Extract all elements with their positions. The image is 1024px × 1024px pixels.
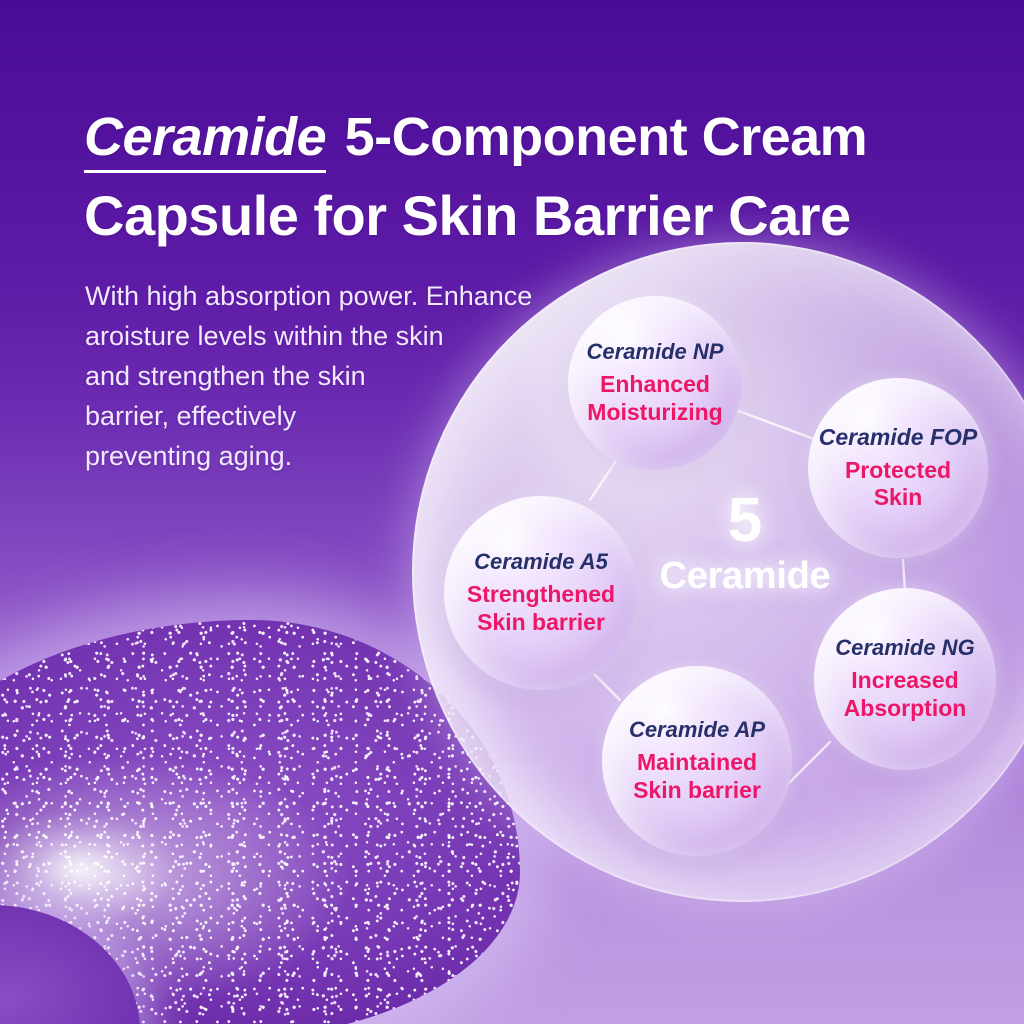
bubble-ng-benefit: Increased Absorption <box>844 667 967 721</box>
bubble-np-name: Ceramide NP <box>587 340 724 364</box>
headline-line-2: Capsule for Skin Barrier Care <box>84 187 984 246</box>
description-line-3: and strengthen the skin <box>85 357 565 397</box>
bubble-ceramide-ng[interactable]: Ceramide NG Increased Absorption <box>814 588 996 770</box>
bubble-a5-benefit: Strengthened Skin barrier <box>467 581 615 635</box>
description-paragraph: With high absorption power. Enhance aroi… <box>85 277 565 477</box>
bubble-ceramide-np[interactable]: Ceramide NP Enhanced Moisturizing <box>568 296 742 470</box>
description-line-5: preventing aging. <box>85 437 565 477</box>
ceramide-word: Ceramide <box>620 555 870 598</box>
bubble-ap-benefit-line-2: Skin barrier <box>633 777 761 804</box>
bubble-ceramide-fop[interactable]: Ceramide FOP Protected Skin <box>808 378 988 558</box>
bubble-a5-benefit-line-1: Strengthened <box>467 581 615 608</box>
headline-emphasis-ceramide: Ceramide <box>84 109 326 173</box>
bubble-ap-name: Ceramide AP <box>629 718 765 742</box>
bubble-np-benefit-line-1: Enhanced <box>587 371 722 398</box>
bubble-ap-benefit-line-1: Maintained <box>633 749 761 776</box>
bubble-ceramide-ap[interactable]: Ceramide AP Maintained Skin barrier <box>602 666 792 856</box>
description-line-2: aroisture levels within the skin <box>85 317 565 357</box>
bubble-ceramide-a5[interactable]: Ceramide A5 Strengthened Skin barrier <box>444 496 638 690</box>
bubble-fop-name: Ceramide FOP <box>819 425 978 450</box>
page-title: Ceramide 5-Component Cream Capsule for S… <box>84 109 984 245</box>
bubble-ng-benefit-line-2: Absorption <box>844 695 967 722</box>
bubble-a5-benefit-line-2: Skin barrier <box>467 609 615 636</box>
bubble-fop-benefit-line-2: Skin <box>845 484 951 511</box>
bubble-ng-benefit-line-1: Increased <box>844 667 967 694</box>
description-line-4: barrier, effectively <box>85 397 565 437</box>
bubble-ng-name: Ceramide NG <box>835 636 974 660</box>
bubble-fop-benefit: Protected Skin <box>845 457 951 511</box>
bubble-fop-benefit-line-1: Protected <box>845 457 951 484</box>
description-line-1: With high absorption power. Enhance <box>85 277 565 317</box>
headline-line-1: Ceramide 5-Component Cream <box>84 109 984 173</box>
bubble-np-benefit: Enhanced Moisturizing <box>587 371 722 425</box>
headline-line-1-rest: 5-Component Cream <box>330 107 867 167</box>
poster-canvas: Ceramide 5-Component Cream Capsule for S… <box>0 0 1024 1024</box>
bubble-a5-name: Ceramide A5 <box>474 550 608 574</box>
bubble-ap-benefit: Maintained Skin barrier <box>633 749 761 803</box>
bubble-np-benefit-line-2: Moisturizing <box>587 399 722 426</box>
